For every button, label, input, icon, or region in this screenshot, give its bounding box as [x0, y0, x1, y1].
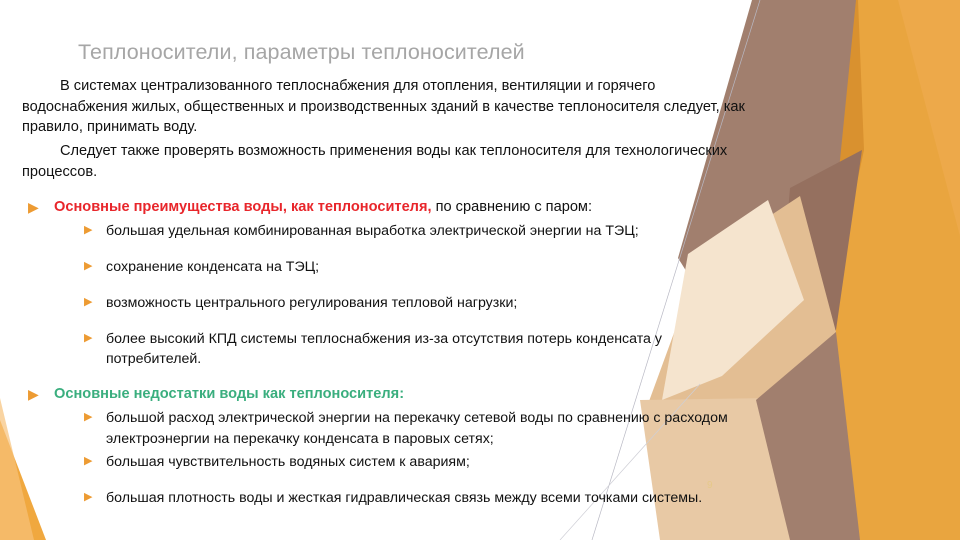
list-item-text: большая удельная комбинированная выработ… [106, 221, 752, 241]
emphasis-advantages: Основные преимущества воды, как теплонос… [54, 199, 432, 215]
list-item: ▶ большая удельная комбинированная выраб… [22, 221, 752, 254]
list-item-text: более высокий КПД системы теплоснабжения… [106, 329, 752, 369]
paragraph-secondary: Следует также проверять возможность прим… [22, 141, 752, 182]
emphasis-disadvantages: Основные недостатки воды как теплоносите… [54, 386, 404, 402]
triangle-sub-bullet-icon: ▶ [84, 329, 106, 346]
list-item: ▶ большой расход электрической энергии н… [22, 408, 752, 448]
list-item-text: большой расход электрической энергии на … [106, 408, 752, 448]
page-title: Теплоносители, параметры теплоносителей [78, 40, 738, 66]
triangle-sub-bullet-icon: ▶ [84, 488, 106, 505]
list-item-text: большая плотность воды и жесткая гидравл… [106, 488, 752, 508]
triangle-sub-bullet-icon: ▶ [84, 452, 106, 469]
bullet-disadvantages-heading: ▶ Основные недостатки воды как теплоноси… [22, 384, 752, 405]
list-item: ▶ более высокий КПД системы теплоснабжен… [22, 329, 752, 369]
triangle-bullet-icon: ▶ [28, 384, 54, 401]
triangle-sub-bullet-icon: ▶ [84, 257, 106, 274]
slide-number: 9 [707, 480, 713, 491]
list-item: ▶ большая чувствительность водяных систе… [22, 452, 752, 485]
triangle-sub-bullet-icon: ▶ [84, 293, 106, 310]
list-item-text: сохранение конденсата на ТЭЦ; [106, 257, 752, 277]
list-item-text: возможность центрального регулирования т… [106, 293, 752, 313]
bullet-advantages-heading-text: Основные преимущества воды, как теплонос… [54, 197, 752, 218]
triangle-sub-bullet-icon: ▶ [84, 408, 106, 425]
slide-body: В системах централизованного теплоснабже… [22, 76, 752, 524]
bullet-disadvantages-heading-text: Основные недостатки воды как теплоносите… [54, 384, 752, 405]
presentation-slide: Теплоносители, параметры теплоносителей … [0, 0, 960, 540]
list-item-text: большая чувствительность водяных систем … [106, 452, 752, 472]
paragraph-intro: В системах централизованного теплоснабже… [22, 76, 752, 138]
list-item: ▶ возможность центрального регулирования… [22, 293, 752, 326]
list-item: ▶ сохранение конденсата на ТЭЦ; [22, 257, 752, 290]
bullet-advantages-heading: ▶ Основные преимущества воды, как теплон… [22, 197, 752, 218]
list-item: ▶ большая плотность воды и жесткая гидра… [22, 488, 752, 521]
triangle-bullet-icon: ▶ [28, 197, 54, 214]
triangle-sub-bullet-icon: ▶ [84, 221, 106, 238]
emphasis-advantages-rest: по сравнению с паром: [432, 199, 593, 215]
